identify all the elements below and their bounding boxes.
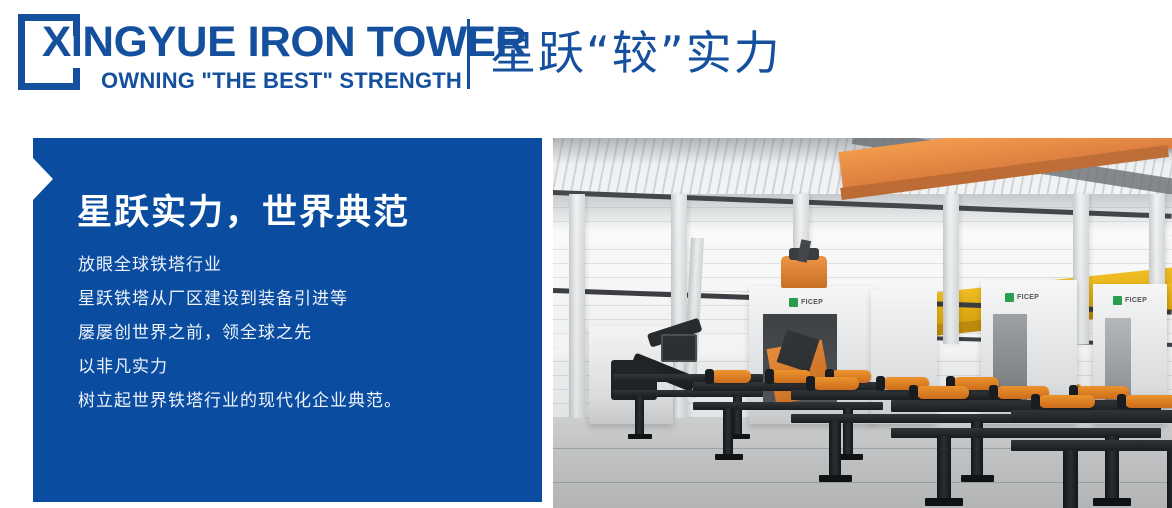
panel-body-line: 放眼全球铁塔行业 (78, 248, 518, 282)
panel-body-line: 以非凡实力 (78, 350, 518, 384)
banner-stage: XINGYUE IRON TOWER OWNING "THE BEST" STR… (0, 0, 1172, 508)
ficep-logo-text: FICEP (1017, 294, 1039, 301)
ficep-logo: FICEP (789, 298, 823, 307)
support-column (943, 194, 959, 344)
panel-body-line: 星跃铁塔从厂区建设到装备引进等 (78, 282, 518, 316)
panel-body-line: 屡屡创世界之前，领全球之先 (78, 316, 518, 350)
ficep-logo-text: FICEP (1125, 297, 1147, 304)
page-header: XINGYUE IRON TOWER OWNING "THE BEST" STR… (0, 0, 1172, 120)
ficep-green-square-icon (789, 298, 798, 307)
header-divider (467, 19, 470, 89)
ficep-logo: FICEP (1005, 293, 1039, 302)
chinese-headline: 星跃“较”实力 (490, 17, 782, 89)
ficep-green-square-icon (1005, 293, 1014, 302)
ficep-logo: FICEP (1113, 296, 1147, 305)
support-column (569, 194, 585, 424)
ficep-logo-text: FICEP (801, 299, 823, 306)
panel-title: 星跃实力，世界典范 (77, 184, 410, 235)
ficep-green-square-icon (1113, 296, 1122, 305)
blue-content-panel: 星跃实力，世界典范 放眼全球铁塔行业 星跃铁塔从厂区建设到装备引进等 屡屡创世界… (33, 138, 542, 502)
floor-seam (553, 482, 1172, 483)
brand-tagline: OWNING "THE BEST" STRENGTH (42, 68, 462, 94)
brand-name: XINGYUE IRON TOWER (42, 18, 470, 66)
brand-wordmark: XINGYUE IRON TOWER OWNING "THE BEST" STR… (42, 18, 462, 94)
factory-photo: FICEP FICEP FICEP (553, 138, 1172, 508)
control-screen (661, 334, 697, 362)
panel-body-line: 树立起世界铁塔行业的现代化企业典范。 (78, 384, 518, 418)
panel-body: 放眼全球铁塔行业 星跃铁塔从厂区建设到装备引进等 屡屡创世界之前，领全球之先 以… (78, 248, 518, 418)
